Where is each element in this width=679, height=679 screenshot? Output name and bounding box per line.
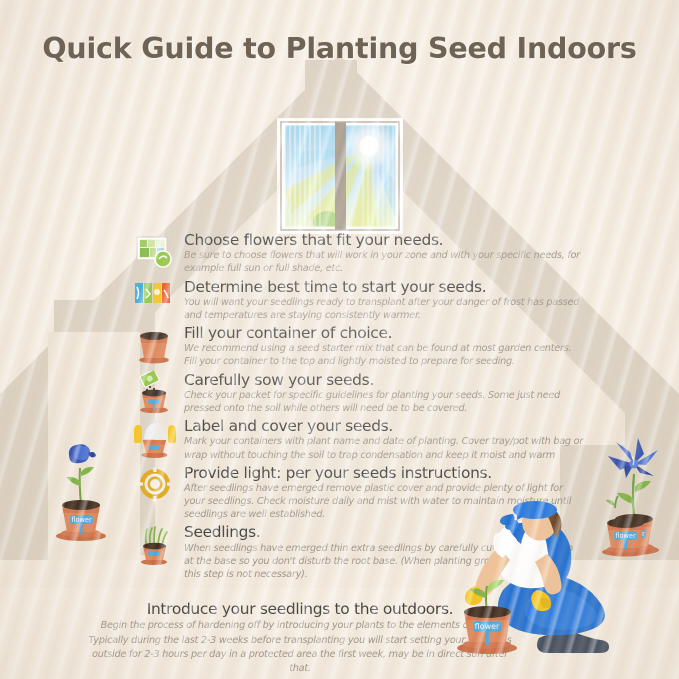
filled-pot-icon bbox=[133, 324, 177, 368]
page-title: Quick Guide to Planting Seed Indoors bbox=[0, 32, 679, 65]
step-title: Provide light: per your seeds instructio… bbox=[184, 464, 585, 482]
step-item: Label and cover your seeds. Mark your co… bbox=[133, 417, 585, 462]
infographic-poster: Quick Guide to Planting Seed Indoors bbox=[0, 0, 679, 679]
step-description: You will want your seedlings ready to tr… bbox=[184, 296, 585, 322]
seasonal-calendar-icon bbox=[133, 278, 177, 322]
step-title: Label and cover your seeds. bbox=[184, 417, 585, 435]
sun-light-icon bbox=[133, 464, 177, 508]
step-description: Be sure to choose flowers that will work… bbox=[184, 249, 585, 275]
seed-packet-pouring-icon bbox=[133, 371, 177, 415]
window-graphic bbox=[277, 118, 403, 234]
step-title: Determine best time to start your seeds. bbox=[184, 278, 585, 296]
step-title: Fill your container of choice. bbox=[184, 324, 585, 342]
step-description: We recommend using a seed starter mix th… bbox=[184, 342, 585, 368]
step-title: Carefully sow your seeds. bbox=[184, 371, 585, 389]
step-item: Determine best time to start your seeds.… bbox=[133, 278, 585, 323]
step-description: Check your packet for specific guideline… bbox=[184, 389, 585, 415]
step-item: Choose flowers that fit your needs. Be s… bbox=[133, 231, 585, 276]
left-potted-plant: flower bbox=[42, 412, 120, 542]
seed-catalog-icon bbox=[133, 231, 177, 275]
pot-label: flower bbox=[475, 622, 500, 631]
gardener-illustration: flower bbox=[437, 490, 679, 679]
step-item: Fill your container of choice. We recomm… bbox=[133, 324, 585, 369]
step-description: Mark your containers with plant name and… bbox=[184, 435, 585, 461]
pot-label: flower bbox=[71, 516, 92, 524]
pot-label: flower bbox=[615, 532, 636, 540]
seedling-pot-icon bbox=[133, 523, 177, 567]
step-title: Choose flowers that fit your needs. bbox=[184, 231, 585, 249]
step-item: Carefully sow your seeds. Check your pac… bbox=[133, 371, 585, 416]
gloves-covered-pot-icon bbox=[133, 417, 177, 461]
